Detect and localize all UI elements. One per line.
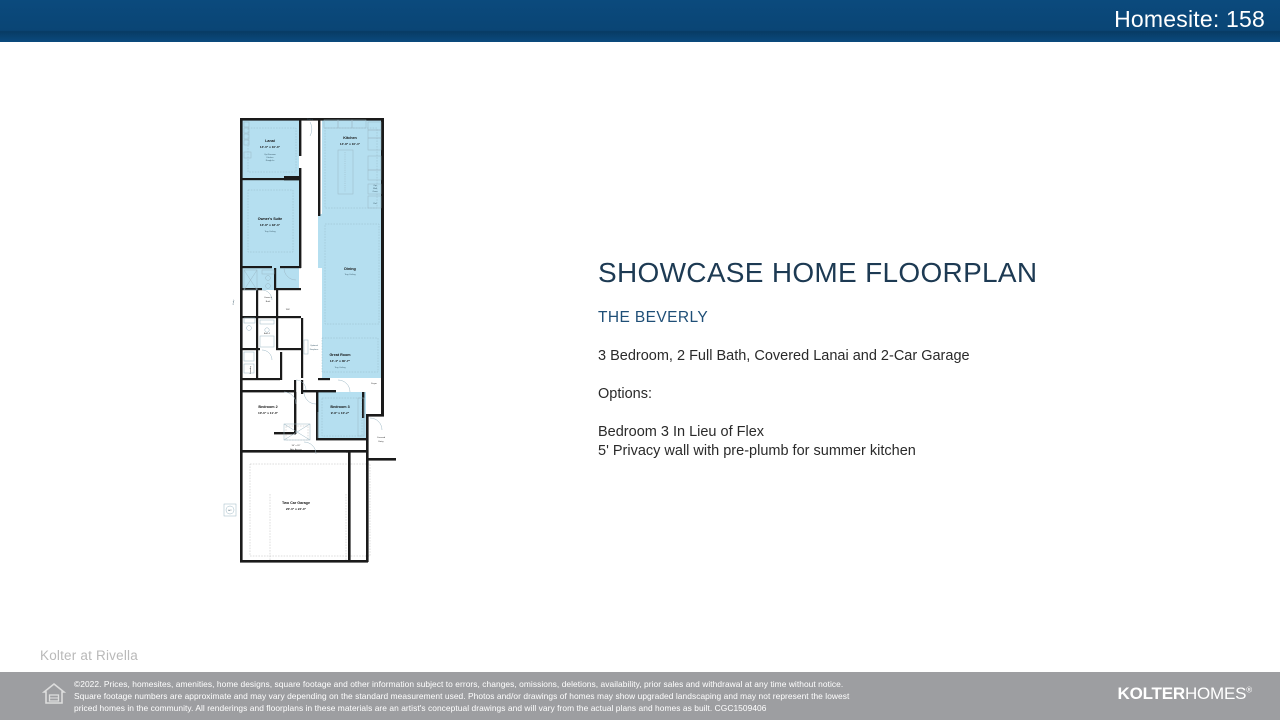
svg-text:9'-8" x 10'-2": 9'-8" x 10'-2": [331, 411, 350, 415]
footer-disclaimer: ©2022. Prices, homesites, amenities, hom…: [74, 679, 1079, 715]
options-list: Bedroom 3 In Lieu of Flex 5' Privacy wal…: [598, 423, 1198, 460]
svg-text:Wall: Wall: [373, 188, 378, 190]
svg-text:Tray Ceiling: Tray Ceiling: [344, 273, 356, 276]
svg-text:Bedroom 2: Bedroom 2: [258, 405, 277, 409]
svg-text:Owner's: Owner's: [264, 296, 273, 299]
svg-text:Owner's Suite: Owner's Suite: [258, 217, 282, 221]
disclaimer-line: ©2022. Prices, homesites, amenities, hom…: [74, 679, 1079, 691]
svg-text:Two Car Garage: Two Car Garage: [282, 501, 310, 505]
page-title: SHOWCASE HOME FLOORPLAN: [598, 258, 1198, 289]
logo-light-text: HOMES: [1185, 684, 1246, 703]
svg-text:Bath: Bath: [266, 300, 271, 303]
svg-text:Rough-In: Rough-In: [266, 160, 275, 162]
svg-text:Dining: Dining: [344, 267, 355, 271]
option-item: Bedroom 3 In Lieu of Flex: [598, 423, 1198, 442]
svg-text:Oven: Oven: [373, 191, 379, 193]
svg-text:Tray Ceiling: Tray Ceiling: [264, 230, 276, 233]
community-label: Kolter at Rivella: [40, 648, 138, 663]
svg-text:Covered: Covered: [377, 436, 386, 439]
svg-text:Opt Summer: Opt Summer: [264, 153, 276, 156]
svg-text:Foyer: Foyer: [371, 382, 377, 385]
svg-text:Entry: Entry: [232, 299, 235, 305]
option-item: 5' Privacy wall with pre-plumb for summe…: [598, 442, 1198, 461]
svg-text:Bath 2: Bath 2: [264, 332, 271, 335]
svg-text:Lanai: Lanai: [265, 139, 275, 143]
svg-text:Laundry: Laundry: [249, 365, 252, 374]
svg-text:Kitchen: Kitchen: [267, 156, 275, 159]
svg-text:Optional: Optional: [310, 344, 318, 347]
svg-text:A/C: A/C: [228, 509, 232, 512]
svg-text:Kitchen: Kitchen: [343, 136, 357, 140]
svg-text:14'-4" x 30'-7": 14'-4" x 30'-7": [330, 359, 351, 363]
svg-text:10'-6" x 11'-0": 10'-6" x 11'-0": [258, 411, 279, 415]
home-summary: 3 Bedroom, 2 Full Bath, Covered Lanai an…: [598, 347, 1198, 365]
logo-bold-text: KOLTER: [1118, 684, 1185, 703]
svg-text:Bedroom 3: Bedroom 3: [330, 405, 349, 409]
disclaimer-line: priced homes in the community. All rende…: [74, 703, 1079, 715]
svg-text:Tray Ceiling: Tray Ceiling: [334, 366, 346, 369]
svg-text:Pantry: Pantry: [307, 118, 314, 121]
model-name: THE BEVERLY: [598, 309, 1198, 327]
svg-text:Fireplace: Fireplace: [310, 348, 319, 351]
equal-housing-opportunity-icon: [42, 681, 66, 707]
floorplan-info-panel: SHOWCASE HOME FLOORPLAN THE BEVERLY 3 Be…: [598, 258, 1198, 460]
registered-trademark-icon: ®: [1246, 685, 1252, 694]
svg-text:Opt: Opt: [373, 184, 377, 187]
disclaimer-line: Square footage numbers are approximate a…: [74, 691, 1079, 703]
svg-text:Entry: Entry: [378, 440, 384, 443]
options-heading: Options:: [598, 385, 1198, 403]
homesite-label: Homesite: 158: [1114, 6, 1265, 33]
svg-text:Attic Access: Attic Access: [290, 448, 303, 451]
svg-text:14'-8" x 10'-4": 14'-8" x 10'-4": [340, 142, 361, 146]
svg-text:13'-8" x 18'-3": 13'-8" x 18'-3": [260, 223, 281, 227]
svg-text:Great Room: Great Room: [329, 353, 351, 357]
header-bar: Homesite: 158: [0, 0, 1280, 42]
svg-text:Ref: Ref: [373, 203, 377, 205]
svg-text:20'-0" x 24'-0": 20'-0" x 24'-0": [286, 507, 307, 511]
svg-text:30" x 20": 30" x 20": [292, 445, 301, 447]
svg-text:14'-0" x 10'-0": 14'-0" x 10'-0": [260, 145, 281, 149]
kolter-homes-logo: KOLTERHOMES®: [1118, 684, 1252, 704]
svg-text:WIC: WIC: [286, 309, 291, 311]
floorplan-drawing: .hl { fill: #b5dff0; } .wht { fill: #fff…: [218, 112, 418, 572]
